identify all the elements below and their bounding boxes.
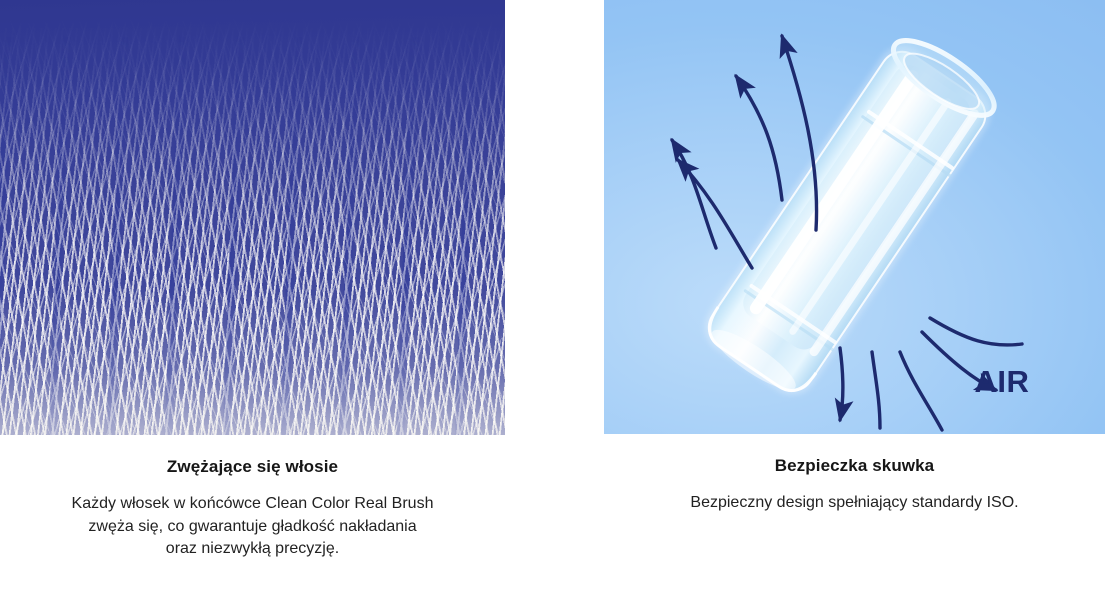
cap-illustration: AIR xyxy=(604,0,1105,434)
airflow-label: AIR xyxy=(975,364,1030,399)
airflow-arrow-5 xyxy=(930,318,1022,345)
safety-cap-airflow-photo: AIR xyxy=(604,0,1105,434)
airflow-arrow-9 xyxy=(840,348,843,420)
feature-description: Każdy włosek w końcówce Clean Color Real… xyxy=(0,478,505,561)
feature-title: Bezpieczka skuwka xyxy=(604,434,1105,477)
bristle-shadow-channels xyxy=(0,0,505,435)
cap-scene: AIR xyxy=(604,0,1105,434)
airflow-arrow-2 xyxy=(678,160,752,268)
feature-title: Zwężające się włosie xyxy=(0,435,505,478)
bristle-layer xyxy=(0,0,505,435)
airflow-arrow-7 xyxy=(900,352,942,430)
airflow-arrow-3 xyxy=(736,76,782,200)
feature-panel-tapered-bristles: Zwężające się włosie Każdy włosek w końc… xyxy=(0,0,505,590)
feature-panel-safety-cap: AIR Bezpieczka skuwka Bezpieczny design … xyxy=(604,0,1105,590)
caption-tapered-bristles: Zwężające się włosie Każdy włosek w końc… xyxy=(0,435,505,561)
airflow-arrow-8 xyxy=(872,352,880,428)
brush-bristles-macro-photo xyxy=(0,0,505,435)
caption-safety-cap: Bezpieczka skuwka Bezpieczny design speł… xyxy=(604,434,1105,515)
airflow-arrow-1 xyxy=(672,140,716,248)
bristle-scene xyxy=(0,0,505,435)
feature-description: Bezpieczny design spełniający standardy … xyxy=(604,477,1105,515)
feature-grid: Zwężające się włosie Każdy włosek w końc… xyxy=(0,0,1105,590)
